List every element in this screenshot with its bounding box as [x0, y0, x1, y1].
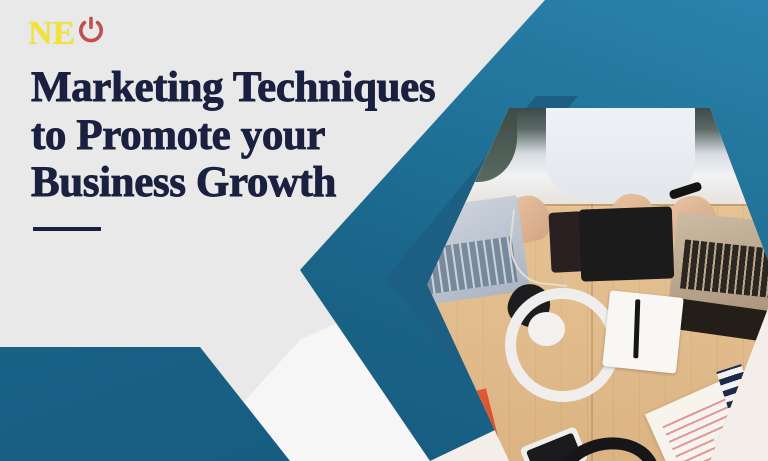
- headphone-earcup-light: [528, 312, 565, 346]
- power-icon: [76, 14, 106, 53]
- tablet-icon: [579, 206, 674, 281]
- person-center-shirt: [546, 108, 695, 200]
- headline-line-3: Business Growth: [31, 159, 501, 207]
- brand-name: NE: [28, 17, 75, 51]
- underline-rule: [33, 227, 101, 231]
- headline-line-2: to Promote your: [31, 112, 501, 160]
- page-title: Marketing Techniques to Promote your Bus…: [31, 64, 501, 207]
- notebook-icon: [602, 290, 684, 373]
- brand-logo[interactable]: NE: [28, 14, 106, 53]
- banner-canvas: NE Marketing Techniques to Promote your …: [0, 0, 768, 461]
- headline-line-1: Marketing Techniques: [31, 64, 501, 112]
- pen-icon: [633, 299, 640, 358]
